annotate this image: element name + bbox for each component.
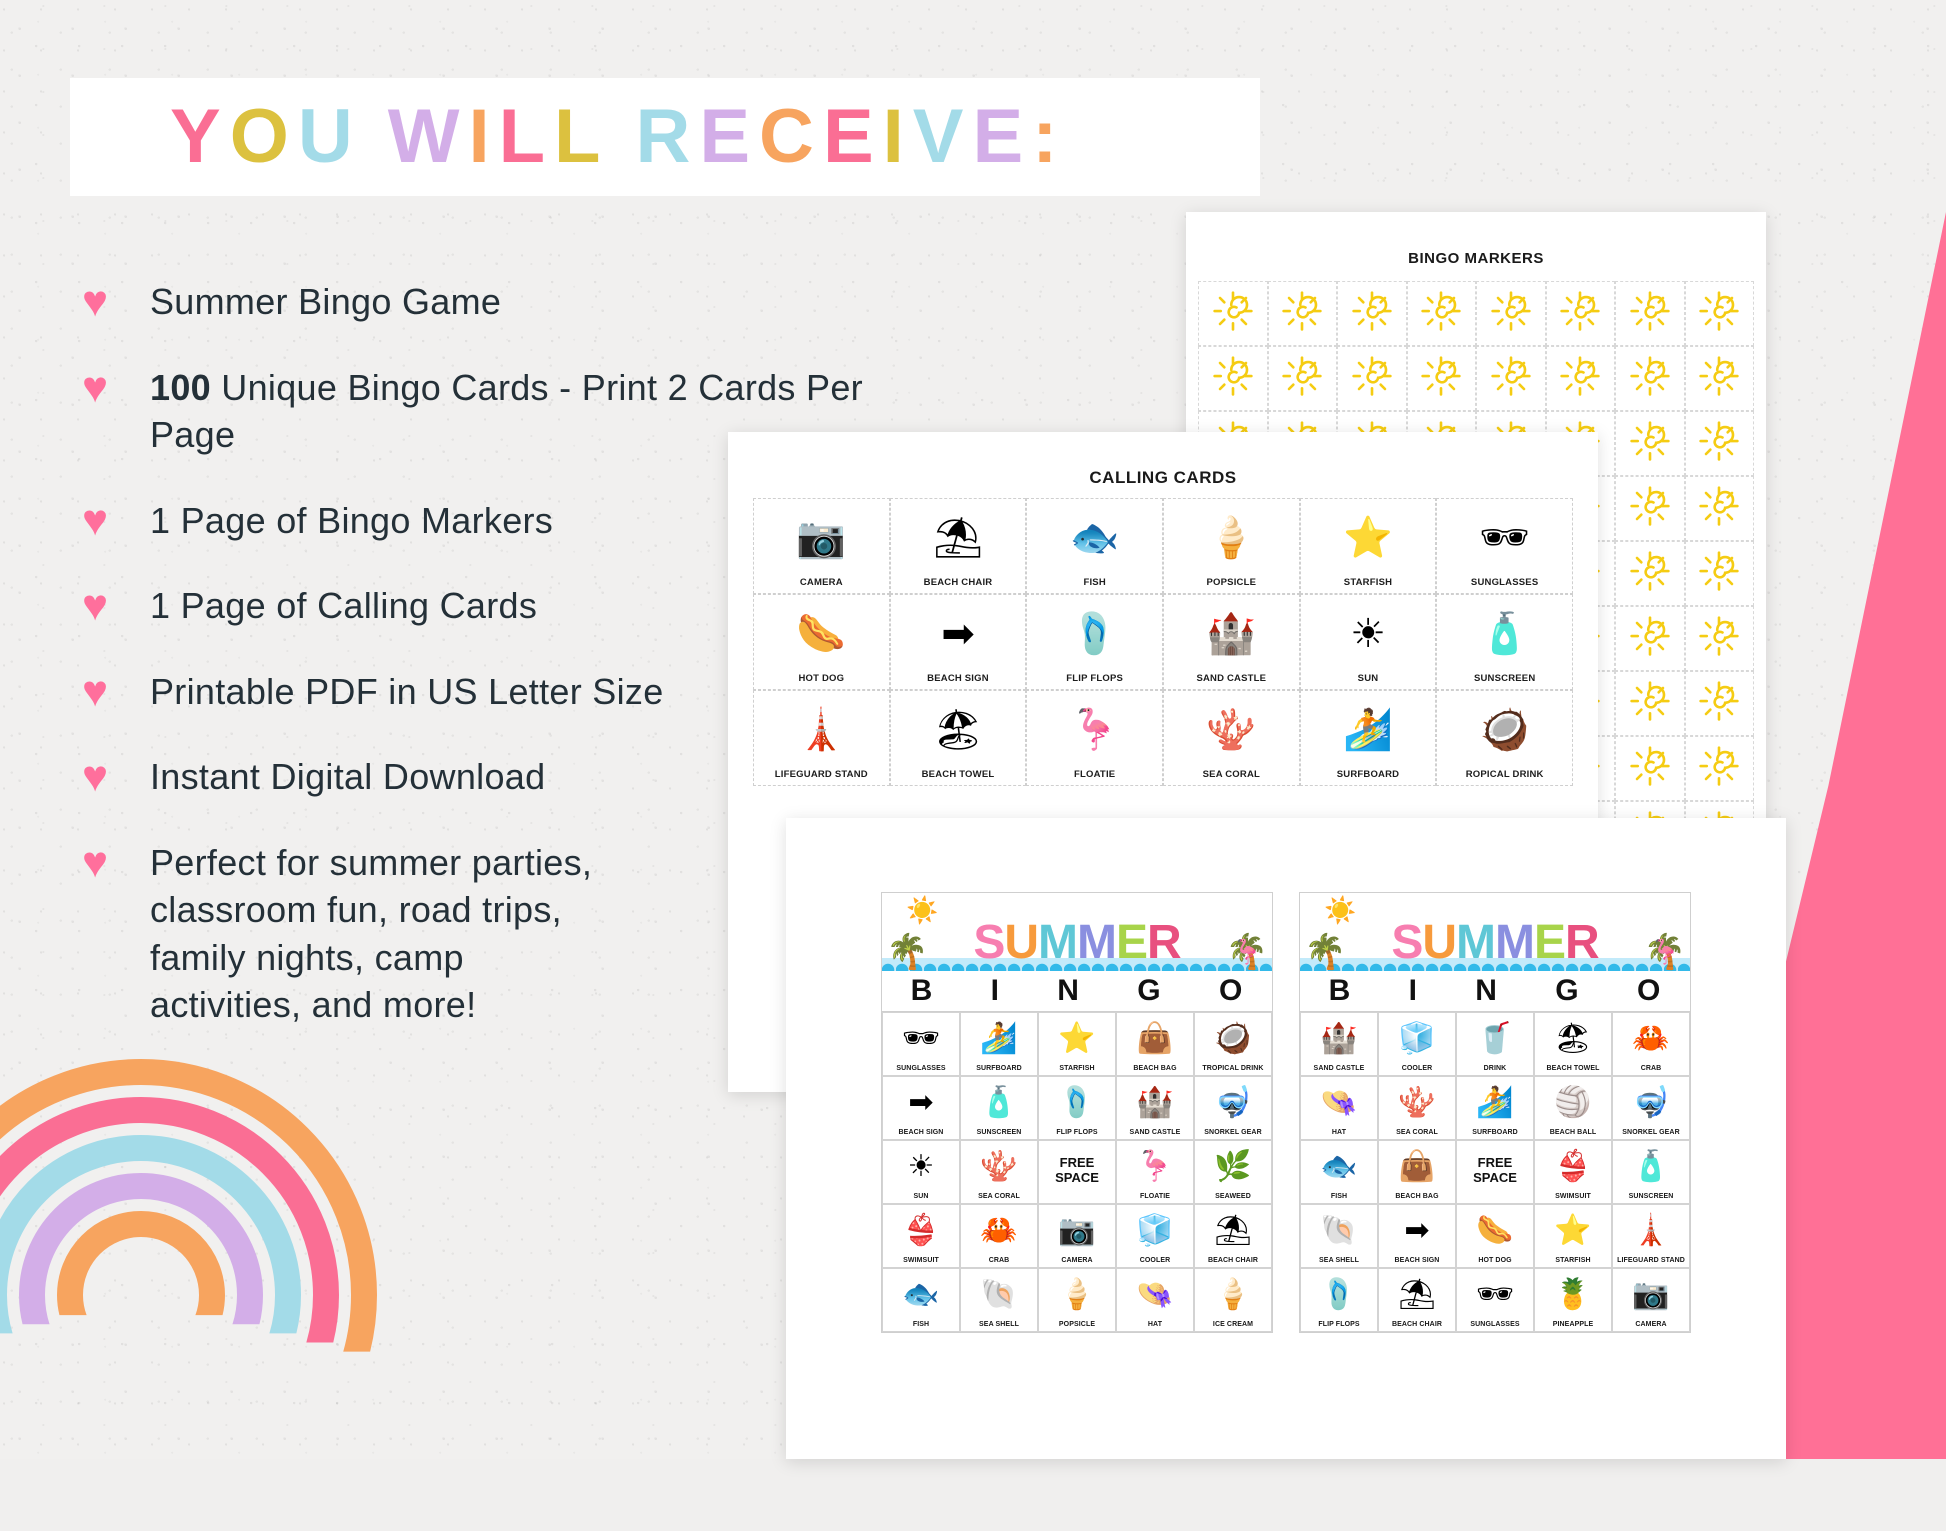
bingo-cell[interactable]: 🪸SEA CORAL [960, 1140, 1038, 1204]
feature-list-item-label: Summer Bingo Game [150, 278, 501, 326]
bingo-cell[interactable]: 🐟FISH [1300, 1140, 1378, 1204]
bingo-cell[interactable]: 👜BEACH BAG [1116, 1012, 1194, 1076]
feature-list-item-label: Instant Digital Download [150, 753, 545, 801]
calling-card-label: SAND CASTLE [1196, 673, 1266, 684]
calling-card-cell: 🥥ROPICAL DRINK [1436, 690, 1573, 786]
bingo-marker-cell [1476, 346, 1546, 411]
calling-card-label: LIFEGUARD STAND [775, 769, 868, 780]
summer-letter: M [1495, 919, 1534, 967]
flamingo-icon: 🦩 [1232, 938, 1262, 967]
beach-bag-icon: 👜 [1398, 1141, 1435, 1193]
bingo-cell[interactable]: 🍍PINEAPPLE [1534, 1268, 1612, 1332]
sunglasses-icon: 🕶 [1476, 1269, 1514, 1321]
beach-chair-icon: ⛱ [1214, 1205, 1252, 1257]
bingo-cell-label: SURFBOARD [976, 1065, 1022, 1072]
calling-card-cell: ☀SUN [1300, 594, 1437, 690]
bingo-cell[interactable]: 🐟FISH [882, 1268, 960, 1332]
bingo-cell[interactable]: 🌿SEAWEED [1194, 1140, 1272, 1204]
swimsuit-icon: 👙 [902, 1205, 939, 1257]
bingo-cell-label: CAMERA [1061, 1257, 1092, 1264]
calling-card-label: STARFISH [1344, 577, 1392, 588]
bingo-marker-cell [1685, 606, 1755, 671]
bingo-cell[interactable]: 🦀CRAB [960, 1204, 1038, 1268]
bingo-marker-cell [1615, 411, 1685, 476]
pineapple-icon: 🍍 [1554, 1269, 1591, 1321]
bingo-letters-row: BINGO [882, 971, 1272, 1012]
summer-letter: U [1004, 919, 1038, 967]
page-title: YOU WILL RECEIVE: [170, 99, 1066, 175]
calling-card-cell: ➡BEACH SIGN [890, 594, 1027, 690]
calling-cards-grid: 📷CAMERA⛱BEACH CHAIR🐟FISH🍦POPSICLE⭐STARFI… [753, 498, 1573, 786]
bingo-letters-row: BINGO [1300, 971, 1690, 1012]
bingo-cell[interactable]: 👒HAT [1116, 1268, 1194, 1332]
calling-card-cell: 🧴SUNSCREEN [1436, 594, 1573, 690]
summer-letter: S [1391, 919, 1422, 967]
hot-dog-icon: 🌭 [1476, 1205, 1513, 1257]
beach-bag-icon: 👜 [1136, 1013, 1173, 1065]
camera-icon: 📷 [1632, 1269, 1669, 1321]
calling-card-cell: 🍦POPSICLE [1163, 498, 1300, 594]
summer-letter: E [1534, 919, 1565, 967]
sun-marker-icon [1559, 355, 1601, 402]
beach-sign-icon: ➡ [1404, 1205, 1429, 1257]
bingo-marker-cell [1685, 736, 1755, 801]
bingo-cell[interactable]: 🏄SURFBOARD [1456, 1076, 1534, 1140]
sun-marker-icon [1629, 420, 1671, 467]
hat-icon: 👒 [1136, 1269, 1173, 1321]
beach-sign-icon: ➡ [891, 595, 1026, 673]
sun-marker-icon [1698, 550, 1740, 597]
calling-card-cell: 🕶SUNGLASSES [1436, 498, 1573, 594]
calling-card-label: BEACH CHAIR [924, 577, 993, 588]
bingo-cell[interactable]: ⭐STARFISH [1038, 1012, 1116, 1076]
summer-letter: R [1147, 919, 1181, 967]
title-letter: V [913, 99, 973, 175]
bingo-marker-cell [1268, 281, 1338, 346]
flip-flops-icon: 🩴 [1320, 1269, 1357, 1321]
bingo-cell[interactable]: 🍦POPSICLE [1038, 1268, 1116, 1332]
sunscreen-icon: 🧴 [980, 1077, 1017, 1129]
calling-card-label: BEACH SIGN [927, 673, 989, 684]
bingo-marker-cell [1546, 346, 1616, 411]
calling-card-cell: 🏰SAND CASTLE [1163, 594, 1300, 690]
bingo-letter: G [1555, 974, 1579, 1008]
sun-marker-icon [1698, 745, 1740, 792]
bingo-cell[interactable]: ⛱BEACH CHAIR [1194, 1204, 1272, 1268]
bingo-cell-label: CRAB [989, 1257, 1010, 1264]
bingo-cell[interactable]: 🏄SURFBOARD [960, 1012, 1038, 1076]
bingo-cell-label: SUNSCREEN [977, 1129, 1022, 1136]
bingo-cell[interactable]: ⭐STARFISH [1534, 1204, 1612, 1268]
summer-banner: ☀️🌴🌴SUMMER🦩 [1300, 893, 1690, 971]
summer-banner: ☀️🌴🌴SUMMER🦩 [882, 893, 1272, 971]
heart-icon: ♥ [82, 584, 128, 628]
bingo-cell[interactable]: 🩴FLIP FLOPS [1300, 1268, 1378, 1332]
bingo-cell-label: FLOATIE [1140, 1193, 1170, 1200]
bingo-cell[interactable]: 👜BEACH BAG [1378, 1140, 1456, 1204]
bingo-letter: B [1329, 974, 1352, 1008]
title-letter: Y [170, 99, 230, 175]
bingo-marker-cell [1685, 476, 1755, 541]
calling-card-cell: 🐟FISH [1026, 498, 1163, 594]
sun-marker-icon [1698, 420, 1740, 467]
bingo-cell-label: FISH [1331, 1193, 1347, 1200]
bingo-cell-label: PINEAPPLE [1553, 1321, 1594, 1328]
surfboard-icon: 🏄 [980, 1013, 1017, 1065]
calling-card-label: FLOATIE [1074, 769, 1115, 780]
bingo-marker-cell [1685, 541, 1755, 606]
sunscreen-icon: 🧴 [1632, 1141, 1669, 1193]
bingo-cell-label: POPSICLE [1059, 1321, 1095, 1328]
bingo-grid: 🕶SUNGLASSES🏄SURFBOARD⭐STARFISH👜BEACH BAG… [882, 1012, 1272, 1332]
title-letter: W [388, 99, 469, 175]
bingo-cell[interactable]: 🗼LIFEGUARD STAND [1612, 1204, 1690, 1268]
bingo-letter: N [1475, 974, 1498, 1008]
calling-card-label: HOT DOG [798, 673, 844, 684]
bingo-card-left[interactable]: ☀️🌴🌴SUMMER🦩BINGO🕶SUNGLASSES🏄SURFBOARD⭐ST… [881, 892, 1273, 1333]
bingo-cell-label: BEACH BALL [1550, 1129, 1597, 1136]
heart-icon: ♥ [82, 841, 128, 885]
bingo-cell[interactable]: 👙SWIMSUIT [1534, 1140, 1612, 1204]
bingo-marker-cell [1337, 281, 1407, 346]
bingo-marker-cell [1198, 281, 1268, 346]
bingo-cell-label: FLIP FLOPS [1318, 1321, 1359, 1328]
fish-icon: 🐟 [1320, 1141, 1357, 1193]
free-space-label: FREESPACE [1473, 1141, 1517, 1200]
bingo-marker-cell [1268, 346, 1338, 411]
sea-coral-icon: 🪸 [1164, 691, 1299, 769]
lifeguard-stand-icon: 🗼 [1632, 1205, 1669, 1257]
bingo-cell-label: SNORKEL GEAR [1622, 1129, 1679, 1136]
cooler-icon: 🧊 [1136, 1205, 1173, 1257]
heart-icon: ♥ [82, 366, 128, 410]
title-letter: C [759, 99, 823, 175]
bingo-cell[interactable]: 🧊COOLER [1378, 1012, 1456, 1076]
calling-card-label: SEA CORAL [1203, 769, 1260, 780]
bingo-cell[interactable]: 🐚SEA SHELL [1300, 1204, 1378, 1268]
sun-icon: ☀ [908, 1141, 935, 1193]
sun-icon: ☀️ [906, 895, 938, 926]
summer-letter: M [1456, 919, 1495, 967]
lifeguard-stand-icon: 🗼 [754, 691, 889, 769]
summer-letter: U [1422, 919, 1456, 967]
bingo-marker-cell [1615, 736, 1685, 801]
rainbow-arc [57, 1211, 225, 1379]
bingo-cell-label: COOLER [1402, 1065, 1433, 1072]
bingo-cell-label: SEA CORAL [978, 1193, 1020, 1200]
bingo-cell[interactable]: 🏰SAND CASTLE [1116, 1076, 1194, 1140]
bingo-cell-label: SNORKEL GEAR [1204, 1129, 1261, 1136]
bingo-letter: I [991, 974, 1000, 1008]
calling-card-label: SUNSCREEN [1474, 673, 1535, 684]
bingo-cell-label: SEAWEED [1215, 1193, 1251, 1200]
bingo-cell-label: HOT DOG [1478, 1257, 1511, 1264]
summer-letter: M [1077, 919, 1116, 967]
palm-tree-icon: 🌴 [1304, 935, 1346, 969]
bingo-cell-label: BEACH CHAIR [1392, 1321, 1442, 1328]
summer-letter: M [1038, 919, 1077, 967]
bingo-cell-label: TROPICAL DRINK [1202, 1065, 1263, 1072]
starfish-icon: ⭐ [1058, 1013, 1095, 1065]
bingo-cell-label: ICE CREAM [1213, 1321, 1253, 1328]
bingo-cell-label: SEA SHELL [979, 1321, 1019, 1328]
bingo-cell[interactable]: 🧊COOLER [1116, 1204, 1194, 1268]
summer-letter: R [1565, 919, 1599, 967]
bingo-cell[interactable]: 🦩FLOATIE [1116, 1140, 1194, 1204]
calling-card-label: SURFBOARD [1337, 769, 1400, 780]
surfboard-icon: 🏄 [1476, 1077, 1513, 1129]
markers-sheet-title: BINGO MARKERS [1186, 250, 1766, 267]
bingo-cell[interactable]: 👒HAT [1300, 1076, 1378, 1140]
bingo-marker-cell [1615, 671, 1685, 736]
calling-card-label: FLIP FLOPS [1066, 673, 1123, 684]
bingo-cell[interactable]: ☀SUN [882, 1140, 960, 1204]
bingo-cell-label: DRINK [1484, 1065, 1507, 1072]
heart-icon: ♥ [82, 670, 128, 714]
calling-card-cell: 🪸SEA CORAL [1163, 690, 1300, 786]
sun-marker-icon [1698, 290, 1740, 337]
bingo-cell[interactable]: 🕶SUNGLASSES [1456, 1268, 1534, 1332]
bingo-cell-label: LIFEGUARD STAND [1617, 1257, 1685, 1264]
sea-coral-icon: 🪸 [980, 1141, 1017, 1193]
bingo-cell[interactable]: 🪸SEA CORAL [1378, 1076, 1456, 1140]
calling-card-label: SUN [1358, 673, 1379, 684]
flamingo-icon: 🦩 [1650, 938, 1680, 967]
sun-marker-icon [1212, 355, 1254, 402]
sea-shell-icon: 🐚 [1320, 1205, 1357, 1257]
sun-marker-icon [1629, 485, 1671, 532]
bingo-cell-label: HAT [1148, 1321, 1162, 1328]
bingo-cell[interactable]: 👙SWIMSUIT [882, 1204, 960, 1268]
sun-marker-icon [1351, 290, 1393, 337]
bingo-letter: O [1219, 974, 1243, 1008]
bingo-cell[interactable]: 🦀CRAB [1612, 1012, 1690, 1076]
bingo-cell-label: SWIMSUIT [1555, 1193, 1591, 1200]
bingo-marker-cell [1407, 346, 1477, 411]
sun-marker-icon [1629, 550, 1671, 597]
bingo-cell-label: BEACH TOWEL [1546, 1065, 1599, 1072]
bingo-letter: O [1637, 974, 1661, 1008]
tropical-drink-icon: 🥥 [1214, 1013, 1251, 1065]
bingo-cell[interactable]: 🥥TROPICAL DRINK [1194, 1012, 1272, 1076]
fish-icon: 🐟 [1027, 499, 1162, 577]
sun-marker-icon [1490, 355, 1532, 402]
calling-card-label: BEACH TOWEL [922, 769, 995, 780]
snorkel-gear-icon: 🤿 [1214, 1077, 1251, 1129]
starfish-icon: ⭐ [1554, 1205, 1591, 1257]
bingo-cell[interactable]: 📷CAMERA [1612, 1268, 1690, 1332]
title-letter [609, 99, 635, 175]
summer-letter: E [1116, 919, 1147, 967]
sand-castle-icon: 🏰 [1320, 1013, 1357, 1065]
beach-chair-icon: ⛱ [891, 499, 1026, 577]
beach-towel-icon: 🏖 [891, 691, 1026, 769]
calling-card-cell: 🏖BEACH TOWEL [890, 690, 1027, 786]
sun-marker-icon [1490, 290, 1532, 337]
sun-marker-icon [1698, 615, 1740, 662]
title-letter: I [883, 99, 913, 175]
bingo-cell-label: FISH [913, 1321, 929, 1328]
tropical-drink-icon: 🥥 [1437, 691, 1572, 769]
bingo-cell[interactable]: ➡BEACH SIGN [1378, 1204, 1456, 1268]
bingo-cell-label: HAT [1332, 1129, 1346, 1136]
beach-towel-icon: 🏖 [1554, 1013, 1592, 1065]
calling-card-cell: 🏄SURFBOARD [1300, 690, 1437, 786]
title-letter: E [972, 99, 1032, 175]
bingo-cell[interactable]: 🌭HOT DOG [1456, 1204, 1534, 1268]
bingo-cell[interactable]: 🤿SNORKEL GEAR [1612, 1076, 1690, 1140]
sun-marker-icon [1281, 355, 1323, 402]
calling-card-cell: ⛱BEACH CHAIR [890, 498, 1027, 594]
sun-marker-icon [1281, 290, 1323, 337]
starfish-icon: ⭐ [1301, 499, 1436, 577]
bingo-cell[interactable]: 🤿SNORKEL GEAR [1194, 1076, 1272, 1140]
calling-card-cell: 🌭HOT DOG [753, 594, 890, 690]
drink-icon: 🥤 [1476, 1013, 1513, 1065]
bingo-cell[interactable]: 🧴SUNSCREEN [1612, 1140, 1690, 1204]
calling-card-cell: 🦩FLOATIE [1026, 690, 1163, 786]
calling-card-label: FISH [1083, 577, 1105, 588]
sun-marker-icon [1420, 355, 1462, 402]
bingo-cell-label: BEACH CHAIR [1208, 1257, 1258, 1264]
bingo-marker-cell [1685, 411, 1755, 476]
title-letter: R [635, 99, 699, 175]
bingo-letter: B [911, 974, 934, 1008]
floatie-icon: 🦩 [1027, 691, 1162, 769]
bingo-marker-cell [1476, 281, 1546, 346]
beach-sign-icon: ➡ [908, 1077, 933, 1129]
crab-icon: 🦀 [1632, 1013, 1669, 1065]
bingo-cell-label: SUNSCREEN [1629, 1193, 1674, 1200]
bingo-cell-label: CRAB [1641, 1065, 1662, 1072]
bingo-cell-label: STARFISH [1059, 1065, 1094, 1072]
flip-flops-icon: 🩴 [1058, 1077, 1095, 1129]
bingo-cards-sheet[interactable]: ☀️🌴🌴SUMMER🦩BINGO🕶SUNGLASSES🏄SURFBOARD⭐ST… [786, 818, 1786, 1459]
bingo-free-space-cell[interactable]: FREESPACE [1038, 1140, 1116, 1204]
bingo-marker-cell [1615, 541, 1685, 606]
flip-flops-icon: 🩴 [1027, 595, 1162, 673]
bingo-card-right[interactable]: ☀️🌴🌴SUMMER🦩BINGO🏰SAND CASTLE🧊COOLER🥤DRIN… [1299, 892, 1691, 1333]
sun-marker-icon [1420, 290, 1462, 337]
bingo-grid: 🏰SAND CASTLE🧊COOLER🥤DRINK🏖BEACH TOWEL🦀CR… [1300, 1012, 1690, 1332]
calling-card-cell: 📷CAMERA [753, 498, 890, 594]
bingo-cell[interactable]: 🥤DRINK [1456, 1012, 1534, 1076]
sun-marker-icon [1698, 680, 1740, 727]
calling-card-label: ROPICAL DRINK [1466, 769, 1544, 780]
feature-list-item: ♥Summer Bingo Game [82, 278, 882, 326]
floatie-icon: 🦩 [1136, 1141, 1173, 1193]
bingo-cell[interactable]: 🏐BEACH BALL [1534, 1076, 1612, 1140]
calling-card-cell: ⭐STARFISH [1300, 498, 1437, 594]
crab-icon: 🦀 [980, 1205, 1017, 1257]
bingo-cell[interactable]: 🧴SUNSCREEN [960, 1076, 1038, 1140]
sun-marker-icon [1351, 355, 1393, 402]
sun-marker-icon [1629, 745, 1671, 792]
sunglasses-icon: 🕶 [902, 1013, 940, 1065]
bingo-marker-cell [1337, 346, 1407, 411]
title-letter: O [230, 99, 298, 175]
surfboard-icon: 🏄 [1301, 691, 1436, 769]
popsicle-icon: 🍦 [1164, 499, 1299, 577]
bingo-cell-label: SAND CASTLE [1314, 1065, 1365, 1072]
bingo-cell[interactable]: 🩴FLIP FLOPS [1038, 1076, 1116, 1140]
title-card: YOU WILL RECEIVE: [70, 78, 1260, 196]
hat-icon: 👒 [1320, 1077, 1357, 1129]
bingo-free-space-cell[interactable]: FREESPACE [1456, 1140, 1534, 1204]
bingo-marker-cell [1615, 606, 1685, 671]
bingo-cell-label: BEACH BAG [1395, 1193, 1438, 1200]
bingo-cell[interactable]: ➡BEACH SIGN [882, 1076, 960, 1140]
sun-marker-icon [1559, 290, 1601, 337]
bingo-cell[interactable]: 🐚SEA SHELL [960, 1268, 1038, 1332]
title-letter: : [1032, 99, 1066, 175]
title-letter: L [499, 99, 554, 175]
sun-marker-icon [1629, 680, 1671, 727]
calling-sheet-title: CALLING CARDS [728, 468, 1598, 488]
bingo-cell-label: STARFISH [1555, 1257, 1590, 1264]
summer-word: SUMMER [1391, 919, 1598, 967]
bingo-marker-cell [1615, 281, 1685, 346]
feature-list-item-label: 1 Page of Bingo Markers [150, 497, 553, 545]
bingo-marker-cell [1546, 281, 1616, 346]
summer-word: SUMMER [973, 919, 1180, 967]
bingo-cell[interactable]: 🕶SUNGLASSES [882, 1012, 960, 1076]
sea-shell-icon: 🐚 [980, 1269, 1017, 1321]
bingo-cell-label: FLIP FLOPS [1056, 1129, 1097, 1136]
bingo-cell-label: SUNGLASSES [896, 1065, 945, 1072]
bingo-cell[interactable]: 🍦ICE CREAM [1194, 1268, 1272, 1332]
bingo-cell[interactable]: 📷CAMERA [1038, 1204, 1116, 1268]
bingo-cell-label: CAMERA [1635, 1321, 1666, 1328]
free-space-label: FREESPACE [1055, 1141, 1099, 1200]
beach-ball-icon: 🏐 [1554, 1077, 1591, 1129]
bingo-cell-label: SUN [913, 1193, 928, 1200]
feature-list-item-label: 1 Page of Calling Cards [150, 582, 537, 630]
bingo-cell-label: BEACH SIGN [899, 1129, 944, 1136]
title-letter: U [298, 99, 362, 175]
title-letter: E [699, 99, 759, 175]
ice-cream-icon: 🍦 [1214, 1269, 1251, 1321]
bingo-marker-cell [1685, 281, 1755, 346]
bingo-marker-cell [1198, 346, 1268, 411]
sun-icon: ☀️ [1324, 895, 1356, 926]
summer-letter: S [973, 919, 1004, 967]
bingo-cell-label: COOLER [1140, 1257, 1171, 1264]
bingo-cell[interactable]: 🏖BEACH TOWEL [1534, 1012, 1612, 1076]
bingo-cell[interactable]: 🏰SAND CASTLE [1300, 1012, 1378, 1076]
sand-castle-icon: 🏰 [1136, 1077, 1173, 1129]
sun-icon: ☀ [1301, 595, 1436, 673]
camera-icon: 📷 [1058, 1205, 1095, 1257]
calling-card-label: SUNGLASSES [1471, 577, 1538, 588]
heart-icon: ♥ [82, 755, 128, 799]
fish-icon: 🐟 [902, 1269, 939, 1321]
bingo-cell[interactable]: ⛱BEACH CHAIR [1378, 1268, 1456, 1332]
sun-marker-icon [1629, 355, 1671, 402]
calling-card-cell: 🩴FLIP FLOPS [1026, 594, 1163, 690]
popsicle-icon: 🍦 [1058, 1269, 1095, 1321]
sun-marker-icon [1629, 615, 1671, 662]
title-letter: L [554, 99, 609, 175]
bingo-marker-cell [1685, 671, 1755, 736]
bingo-marker-cell [1615, 476, 1685, 541]
heart-icon: ♥ [82, 280, 128, 324]
sand-castle-icon: 🏰 [1164, 595, 1299, 673]
bingo-cards-row: ☀️🌴🌴SUMMER🦩BINGO🕶SUNGLASSES🏄SURFBOARD⭐ST… [786, 818, 1786, 1333]
palm-tree-icon: 🌴 [886, 935, 928, 969]
feature-list-item-label: Printable PDF in US Letter Size [150, 668, 664, 716]
bingo-letter: I [1409, 974, 1418, 1008]
